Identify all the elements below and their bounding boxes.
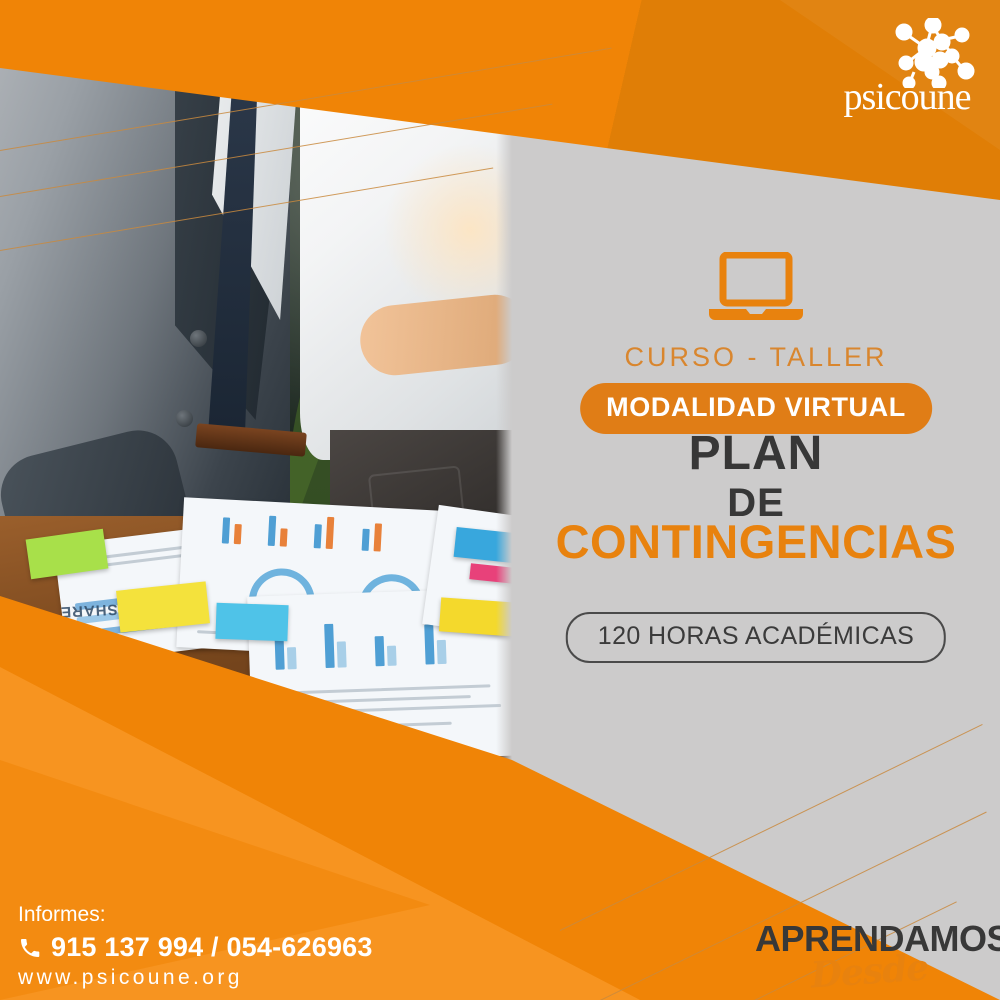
phone-row[interactable]: 915 137 994 / 054-626963 bbox=[18, 932, 373, 963]
suit-button bbox=[176, 410, 193, 427]
title-line-3: CONTINGENCIAS bbox=[512, 518, 1000, 565]
laptop-icon bbox=[706, 252, 806, 324]
phone-icon bbox=[18, 936, 42, 960]
suit-button bbox=[190, 330, 207, 347]
phone-numbers: 915 137 994 / 054-626963 bbox=[51, 932, 373, 963]
promo-poster: MARKET SHARE bbox=[0, 0, 1000, 1000]
content-column: CURSO - TALLER MODALIDAD VIRTUAL PLAN DE… bbox=[512, 0, 1000, 1000]
website-url[interactable]: www.psicoune.org bbox=[18, 966, 243, 990]
informes-label: Informes: bbox=[18, 903, 106, 927]
sticky-note bbox=[215, 603, 288, 641]
title-line-1: PLAN bbox=[512, 430, 1000, 478]
eyebrow-text: CURSO - TALLER bbox=[512, 342, 1000, 373]
hours-badge: 120 HORAS ACADÉMICAS bbox=[566, 612, 946, 663]
